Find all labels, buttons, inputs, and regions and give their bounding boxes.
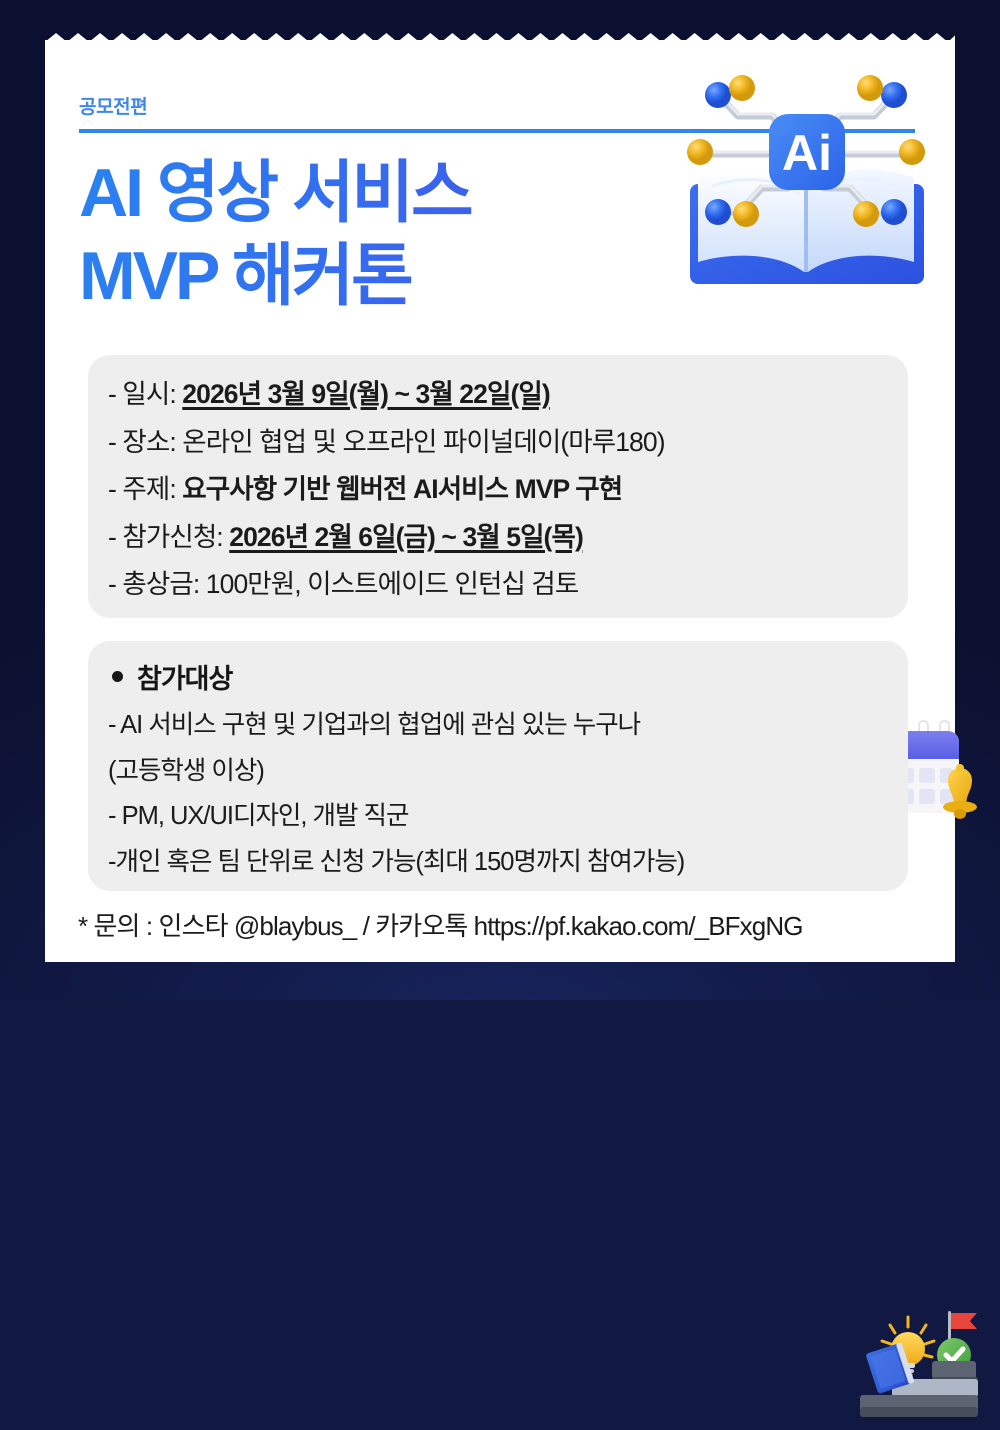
detail-row-date: - 일시: 2026년 3월 9일(월) ~ 3월 22일(일) [108, 371, 892, 419]
detail-row-topic: - 주제: 요구사항 기반 웹버전 AI서비스 MVP 구현 [108, 466, 892, 514]
detail-value: 100만원, 이스트에이드 인턴십 검토 [206, 569, 579, 599]
eyebrow-label: 공모전편 [79, 92, 147, 119]
detail-row-apply: - 참가신청: 2026년 2월 6일(금) ~ 3월 5일(목) [108, 514, 892, 562]
detail-value: 요구사항 기반 웹버전 AI서비스 MVP 구현 [182, 474, 622, 504]
page-title: AI 영상 서비스 MVP 해커톤 [79, 152, 699, 318]
detail-label: - 주제: [108, 474, 182, 504]
contact-footer: * 문의 : 인스타 @blaybus_ / 카카오톡 https://pf.k… [78, 906, 803, 943]
bullet-dot-icon [112, 671, 123, 682]
detail-label: - 참가신청: [108, 522, 229, 552]
target-line: (고등학생 이상) [108, 749, 894, 795]
detail-value: 온라인 협업 및 오프라인 파이널데이(마루180) [182, 427, 664, 457]
detail-label: - 일시: [108, 379, 182, 409]
details-box: - 일시: 2026년 3월 9일(월) ~ 3월 22일(일) - 장소: 온… [88, 355, 908, 618]
detail-value: 2026년 3월 9일(월) ~ 3월 22일(일) [182, 379, 550, 409]
ai-badge-text: Ai [782, 125, 832, 181]
detail-row-place: - 장소: 온라인 협업 및 오프라인 파이널데이(마루180) [108, 419, 892, 467]
target-line: - PM, UX/UI디자인, 개발 직군 [108, 794, 894, 840]
target-line: -개인 혹은 팀 단위로 신청 가능(최대 150명까지 참여가능) [108, 840, 894, 886]
ai-book-illustration: Ai [676, 66, 936, 298]
detail-label: - 총상금: [108, 569, 206, 599]
details-list: - 일시: 2026년 3월 9일(월) ~ 3월 22일(일) - 장소: 온… [108, 371, 892, 609]
steps-goal-illustration [844, 1303, 986, 1425]
poster-root: 공모전편 AI 영상 서비스 MVP 해커톤 [0, 0, 1000, 1000]
detail-row-prize: - 총상금: 100만원, 이스트에이드 인턴십 검토 [108, 561, 892, 609]
card-torn-edge [45, 33, 955, 53]
target-heading-text: 참가대상 [137, 657, 232, 696]
target-heading: 참가대상 [112, 657, 232, 696]
target-box: 참가대상 - AI 서비스 구현 및 기업과의 협업에 관심 있는 누구나 (고… [88, 641, 908, 891]
detail-label: - 장소: [108, 427, 182, 457]
target-list: - AI 서비스 구현 및 기업과의 협업에 관심 있는 누구나 (고등학생 이… [108, 703, 894, 885]
detail-value: 2026년 2월 6일(금) ~ 3월 5일(목) [229, 522, 583, 552]
target-line: - AI 서비스 구현 및 기업과의 협업에 관심 있는 누구나 [108, 703, 894, 749]
